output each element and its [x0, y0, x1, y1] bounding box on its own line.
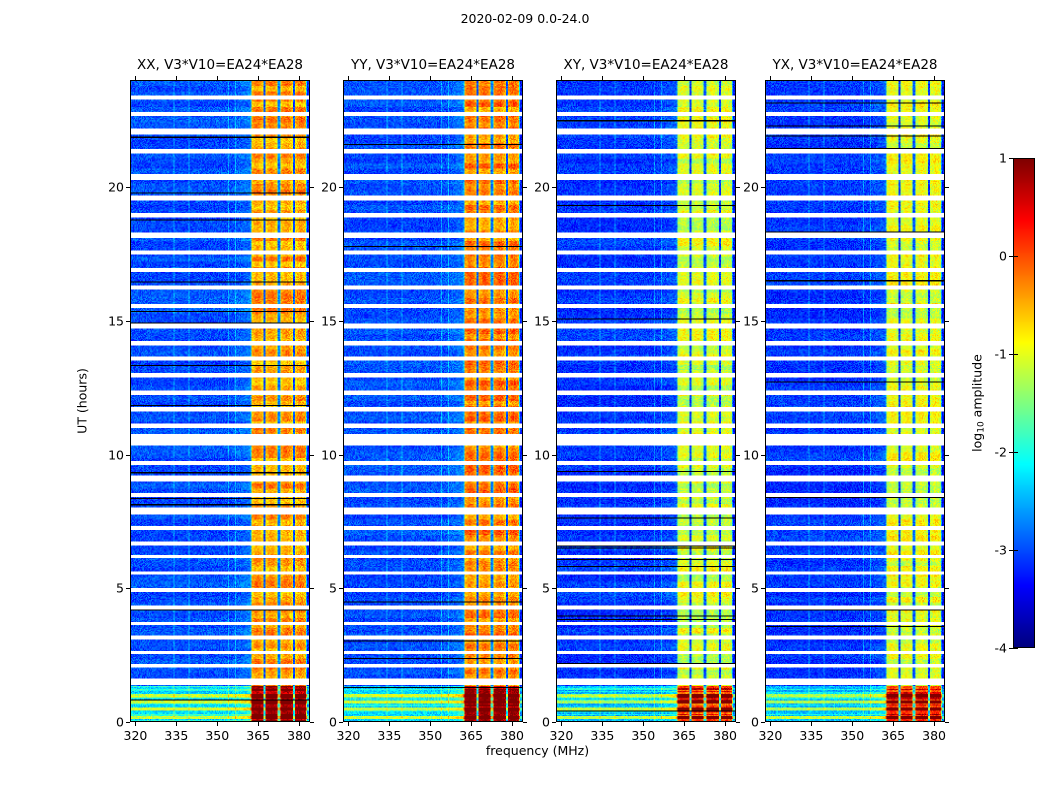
matplotlib-figure: 2020-02-09 0.0-24.0 XX, V3*V10=EA24*EA28… [0, 0, 1050, 800]
colorbar-tick-label: -2 [995, 445, 1007, 460]
colorbar-tick-inner [1013, 550, 1018, 551]
x-tick-top [684, 76, 685, 80]
figure-suptitle: 2020-02-09 0.0-24.0 [0, 11, 1050, 26]
x-tick [684, 722, 685, 726]
x-tick-top [770, 76, 771, 80]
colorbar-tick-inner [1013, 158, 1018, 159]
colorbar-tick-inner [1013, 452, 1018, 453]
y-tick-right [310, 321, 314, 322]
y-tick [552, 187, 556, 188]
x-tick-top [430, 76, 431, 80]
y-tick-label: 20 [534, 180, 550, 195]
y-tick-label: 5 [329, 581, 337, 596]
y-tick [339, 321, 343, 322]
y-tick [339, 187, 343, 188]
y-tick [339, 588, 343, 589]
x-tick-label: 350 [631, 728, 655, 743]
colorbar-tick-label: 1 [999, 151, 1007, 166]
panel-axes [765, 80, 945, 722]
y-tick [126, 455, 130, 456]
y-tick-right [945, 455, 949, 456]
y-tick-right [310, 187, 314, 188]
colorbar-tick-label: 0 [999, 249, 1007, 264]
x-axis-label: frequency (MHz) [130, 743, 945, 758]
x-tick-label: 335 [799, 728, 823, 743]
y-tick [761, 187, 765, 188]
x-tick [389, 722, 390, 726]
y-tick [552, 321, 556, 322]
x-tick-top [643, 76, 644, 80]
colorbar-label-prefix: log [970, 433, 985, 452]
panel-yy[interactable]: YY, V3*V10=EA24*EA2832033535036538005101… [343, 80, 523, 722]
x-tick [893, 722, 894, 726]
y-tick-right [523, 588, 527, 589]
panel-title: XX, V3*V10=EA24*EA28 [130, 57, 310, 80]
y-tick-right [945, 588, 949, 589]
x-tick-top [934, 76, 935, 80]
x-tick [348, 722, 349, 726]
x-tick [602, 722, 603, 726]
y-tick [126, 187, 130, 188]
y-tick [761, 455, 765, 456]
y-tick-right [736, 455, 740, 456]
colorbar[interactable]: 10-1-2-3-4 [1013, 158, 1035, 648]
y-tick-right [310, 722, 314, 723]
y-tick [126, 588, 130, 589]
waterfall-image [766, 81, 944, 721]
colorbar-tick-label: -1 [995, 347, 1007, 362]
x-tick-top [811, 76, 812, 80]
y-tick [761, 321, 765, 322]
panel-axes [130, 80, 310, 722]
waterfall-image [557, 81, 735, 721]
y-tick-label: 0 [542, 715, 550, 730]
waterfall-canvas [131, 81, 309, 721]
y-tick-right [945, 321, 949, 322]
waterfall-image [131, 81, 309, 721]
y-tick-label: 20 [743, 180, 759, 195]
x-tick [217, 722, 218, 726]
x-tick [430, 722, 431, 726]
y-tick-right [736, 187, 740, 188]
panel-xy[interactable]: XY, V3*V10=EA24*EA2832033535036538005101… [556, 80, 736, 722]
x-tick-label: 320 [124, 728, 148, 743]
waterfall-canvas [557, 81, 735, 721]
x-tick [258, 722, 259, 726]
panel-axes [556, 80, 736, 722]
y-tick [126, 321, 130, 322]
panel-title: YY, V3*V10=EA24*EA28 [343, 57, 523, 80]
y-tick-label: 20 [108, 180, 124, 195]
x-tick-top [299, 76, 300, 80]
panel-title: XY, V3*V10=EA24*EA28 [556, 57, 736, 80]
x-tick-top [135, 76, 136, 80]
y-tick [126, 722, 130, 723]
colorbar-tick-label: -4 [995, 641, 1007, 656]
y-tick-label: 10 [743, 447, 759, 462]
x-tick-top [258, 76, 259, 80]
y-tick-right [523, 455, 527, 456]
x-tick-label: 380 [713, 728, 737, 743]
y-tick-right [945, 722, 949, 723]
y-tick-label: 5 [542, 581, 550, 596]
x-tick-top [602, 76, 603, 80]
colorbar-tick-label: -3 [995, 543, 1007, 558]
x-tick-top [725, 76, 726, 80]
x-tick-label: 335 [377, 728, 401, 743]
x-tick-top [389, 76, 390, 80]
x-tick [643, 722, 644, 726]
x-tick [852, 722, 853, 726]
y-tick-right [310, 588, 314, 589]
y-tick-right [523, 722, 527, 723]
x-tick-top [852, 76, 853, 80]
y-tick-label: 15 [534, 313, 550, 328]
x-tick-label: 380 [922, 728, 946, 743]
x-tick [934, 722, 935, 726]
y-tick-right [736, 321, 740, 322]
x-tick-label: 320 [337, 728, 361, 743]
x-tick [299, 722, 300, 726]
x-tick [176, 722, 177, 726]
x-tick [770, 722, 771, 726]
x-tick [135, 722, 136, 726]
panel-axes [343, 80, 523, 722]
x-tick-label: 380 [500, 728, 524, 743]
y-tick [761, 722, 765, 723]
x-tick [512, 722, 513, 726]
waterfall-canvas [344, 81, 522, 721]
x-tick-label: 320 [550, 728, 574, 743]
y-tick [552, 588, 556, 589]
x-tick-label: 350 [840, 728, 864, 743]
x-tick-label: 365 [459, 728, 483, 743]
y-tick-right [523, 321, 527, 322]
x-tick-top [217, 76, 218, 80]
x-tick [471, 722, 472, 726]
colorbar-label-subscript: 10 [976, 421, 986, 432]
y-tick-label: 10 [534, 447, 550, 462]
panel-title: YX, V3*V10=EA24*EA28 [765, 57, 945, 80]
x-tick [561, 722, 562, 726]
x-tick-top [512, 76, 513, 80]
colorbar-gradient [1013, 158, 1035, 648]
x-tick-label: 335 [164, 728, 188, 743]
y-tick-right [523, 187, 527, 188]
y-tick-right [736, 722, 740, 723]
y-tick-label: 15 [743, 313, 759, 328]
x-tick-label: 365 [881, 728, 905, 743]
y-tick-label: 15 [321, 313, 337, 328]
x-tick-top [893, 76, 894, 80]
y-tick [552, 722, 556, 723]
y-tick [339, 455, 343, 456]
colorbar-tick-inner [1013, 354, 1018, 355]
y-tick-label: 20 [321, 180, 337, 195]
x-tick-top [176, 76, 177, 80]
y-tick [552, 455, 556, 456]
colorbar-tick-inner [1013, 648, 1018, 649]
y-tick-label: 10 [321, 447, 337, 462]
x-tick-label: 335 [590, 728, 614, 743]
y-tick-label: 5 [116, 581, 124, 596]
x-tick [811, 722, 812, 726]
colorbar-label-suffix: amplitude [970, 354, 985, 421]
y-tick [761, 588, 765, 589]
y-tick-label: 0 [116, 715, 124, 730]
y-tick-label: 10 [108, 447, 124, 462]
x-tick-label: 350 [418, 728, 442, 743]
y-tick [339, 722, 343, 723]
x-tick-label: 320 [759, 728, 783, 743]
x-tick-label: 350 [205, 728, 229, 743]
x-tick-top [561, 76, 562, 80]
y-axis-label: UT (hours) [75, 368, 90, 434]
waterfall-canvas [766, 81, 944, 721]
y-tick-label: 5 [751, 581, 759, 596]
colorbar-tick-inner [1013, 256, 1018, 257]
waterfall-image [344, 81, 522, 721]
y-tick-label: 15 [108, 313, 124, 328]
y-tick-label: 0 [329, 715, 337, 730]
y-tick-right [945, 187, 949, 188]
x-tick-label: 365 [246, 728, 270, 743]
panel-yx[interactable]: YX, V3*V10=EA24*EA2832033535036538005101… [765, 80, 945, 722]
x-tick-top [348, 76, 349, 80]
y-tick-right [736, 588, 740, 589]
x-tick-label: 365 [672, 728, 696, 743]
x-tick-label: 380 [287, 728, 311, 743]
panel-xx[interactable]: XX, V3*V10=EA24*EA2832033535036538005101… [130, 80, 310, 722]
x-tick [725, 722, 726, 726]
y-tick-right [310, 455, 314, 456]
y-tick-label: 0 [751, 715, 759, 730]
x-tick-top [471, 76, 472, 80]
colorbar-label: log10 amplitude [970, 354, 987, 452]
